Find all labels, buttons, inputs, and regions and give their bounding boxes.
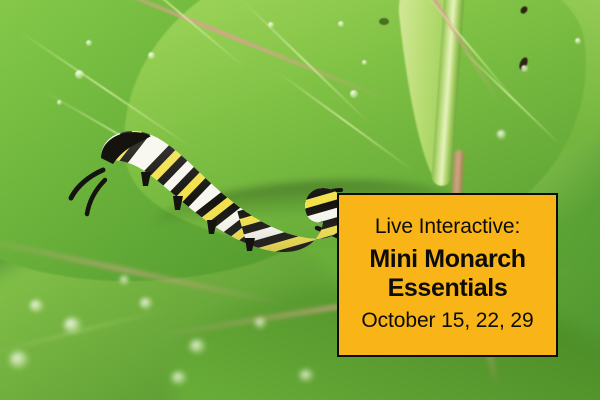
water-droplet bbox=[57, 100, 62, 105]
water-droplet bbox=[75, 70, 84, 79]
water-droplet bbox=[30, 300, 43, 312]
water-droplet bbox=[140, 298, 152, 309]
promo-card: Live Interactive: Mini Monarch Essential… bbox=[337, 193, 558, 357]
promo-dates: October 15, 22, 29 bbox=[347, 310, 548, 332]
caterpillar-head-tentacles bbox=[71, 170, 105, 214]
water-droplet bbox=[64, 318, 81, 333]
insect bbox=[379, 18, 389, 25]
promo-heading-line-2: Essentials bbox=[347, 275, 548, 302]
water-droplet bbox=[497, 130, 506, 139]
water-droplet bbox=[10, 352, 28, 368]
water-droplet bbox=[148, 52, 155, 59]
water-droplet bbox=[86, 40, 92, 46]
water-droplet bbox=[255, 318, 266, 328]
promo-heading-line-1: Mini Monarch bbox=[347, 246, 548, 273]
promo-graphic: Live Interactive: Mini Monarch Essential… bbox=[0, 0, 600, 400]
water-droplet bbox=[300, 370, 313, 381]
water-droplet bbox=[521, 65, 528, 72]
water-droplet bbox=[575, 38, 581, 44]
water-droplet bbox=[172, 372, 186, 384]
promo-title: Live Interactive: bbox=[347, 216, 548, 238]
water-droplet bbox=[338, 21, 344, 27]
water-droplet bbox=[268, 22, 274, 28]
water-droplet bbox=[190, 340, 205, 353]
monarch-caterpillar bbox=[55, 110, 355, 280]
water-droplet bbox=[362, 60, 367, 65]
water-droplet bbox=[350, 90, 358, 98]
